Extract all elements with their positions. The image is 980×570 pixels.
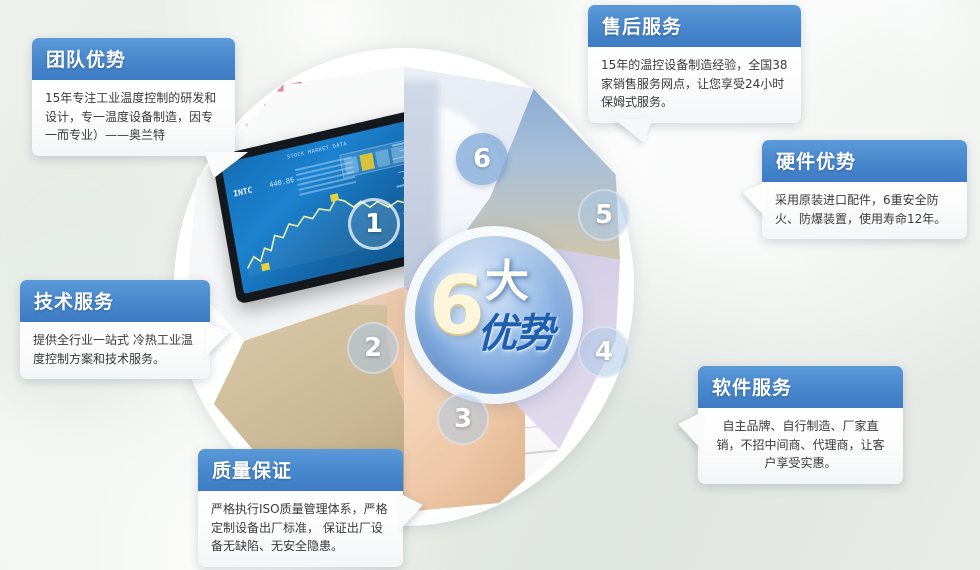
card-tail-team xyxy=(204,152,248,178)
badge-number-6: 6 xyxy=(473,144,491,174)
card-body-team: 15年专注工业温度控制的研发和设计，专一温度设备制造，因专一而专业）——奥兰特 xyxy=(32,80,235,156)
tablet-screen-title: STOCK MARKET DATA xyxy=(287,141,348,161)
callout-card-after-sales[interactable]: 售后服务 15年的温控设备制造经验，全国38家销售服务网点，让您享受24小时保姆… xyxy=(588,5,801,123)
tablet-screen: STOCK MARKET DATA INTC 440.86 xyxy=(221,120,433,294)
badge-number-5: 5 xyxy=(595,200,613,230)
badge-number-3: 3 xyxy=(454,404,472,434)
card-tail-after-sales xyxy=(614,119,652,143)
center-big-char: 大 xyxy=(485,260,529,304)
tablet-price: 440.86 xyxy=(269,176,295,190)
card-tail-tech xyxy=(206,322,230,356)
segment-badge-5[interactable]: 5 xyxy=(578,189,630,241)
card-title-tech: 技术服务 xyxy=(20,280,210,322)
badge-number-2: 2 xyxy=(364,333,382,363)
segment-badge-3[interactable]: 3 xyxy=(437,393,489,445)
card-tail-quality xyxy=(399,493,423,531)
segment-badge-1[interactable]: 1 xyxy=(348,198,400,250)
segment-badge-6[interactable]: 6 xyxy=(456,133,508,185)
center-hub[interactable]: 6 大 优势 xyxy=(405,226,583,404)
tablet-ticker: INTC xyxy=(233,185,253,198)
card-title-quality: 质量保证 xyxy=(198,449,403,491)
card-title-hardware: 硬件优势 xyxy=(762,140,967,182)
card-body-software: 自主品牌、自行制造、厂家直销，不招中间商、代理商，让客户享受实惠。 xyxy=(698,408,903,484)
card-tail-hardware xyxy=(742,182,766,218)
callout-card-team[interactable]: 团队优势 15年专注工业温度控制的研发和设计，专一温度设备制造，因专一而专业）—… xyxy=(32,38,235,156)
segment-badge-2[interactable]: 2 xyxy=(347,322,399,374)
segment-badge-4[interactable]: 4 xyxy=(578,326,630,378)
callout-card-software[interactable]: 软件服务 自主品牌、自行制造、厂家直销，不招中间商、代理商，让客户享受实惠。 xyxy=(698,366,903,484)
card-body-after-sales: 15年的温控设备制造经验，全国38家销售服务网点，让您享受24小时保姆式服务。 xyxy=(588,47,801,123)
card-title-software: 软件服务 xyxy=(698,366,903,408)
badge-number-4: 4 xyxy=(595,337,613,367)
callout-card-quality[interactable]: 质量保证 严格执行ISO质量管理体系，严格定制设备出厂标准， 保证出厂设备无缺陷… xyxy=(198,449,403,567)
card-body-tech: 提供全行业一站式 冷热工业温度控制方案和技术服务。 xyxy=(20,322,210,379)
card-tail-software xyxy=(678,412,702,450)
card-title-team: 团队优势 xyxy=(32,38,235,80)
badge-number-1: 1 xyxy=(365,209,383,239)
center-script-text: 优势 xyxy=(477,312,553,356)
card-title-after-sales: 售后服务 xyxy=(588,5,801,47)
card-body-quality: 严格执行ISO质量管理体系，严格定制设备出厂标准， 保证出厂设备无缺陷、无安全隐… xyxy=(198,491,403,567)
center-hub-disc: 6 大 优势 xyxy=(415,236,573,394)
callout-card-hardware[interactable]: 硬件优势 采用原装进口配件，6重安全防火、防爆装置，使用寿命12年。 xyxy=(762,140,967,239)
card-body-hardware: 采用原装进口配件，6重安全防火、防爆装置，使用寿命12年。 xyxy=(762,182,967,239)
callout-card-tech[interactable]: 技术服务 提供全行业一站式 冷热工业温度控制方案和技术服务。 xyxy=(20,280,210,379)
